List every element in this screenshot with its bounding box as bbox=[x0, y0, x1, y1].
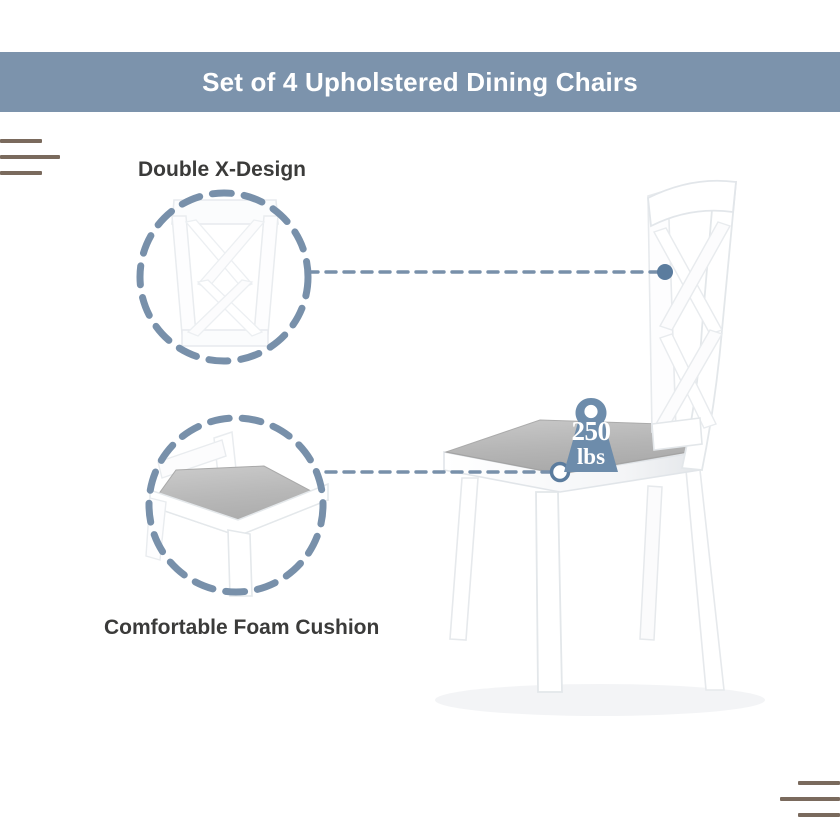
callout-label-comfortable-foam-cushion: Comfortable Foam Cushion bbox=[104, 616, 379, 640]
callout-connectors bbox=[0, 0, 840, 840]
weight-capacity-badge: 250 lbs bbox=[556, 396, 626, 474]
weight-icon bbox=[556, 396, 626, 474]
connector-dot-x-design bbox=[657, 264, 673, 280]
infographic-canvas: Set of 4 Upholstered Dining Chairs bbox=[0, 0, 840, 840]
callout-label-double-x-design: Double X-Design bbox=[138, 158, 306, 182]
